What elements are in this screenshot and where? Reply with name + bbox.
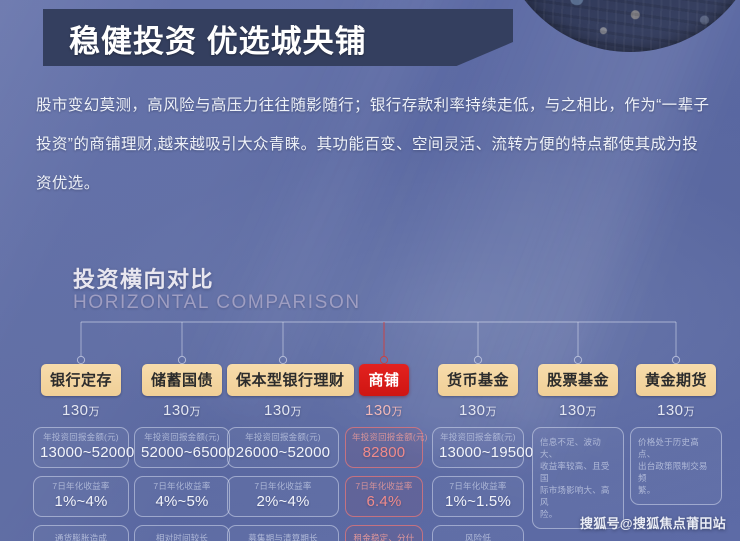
return-amount-box: 年投资回报金额(元)13000~52000 — [33, 427, 129, 468]
amount-unit: 万 — [684, 406, 696, 418]
remark-text: 风险低收益率低 — [438, 532, 518, 541]
remark-box: 募集期与清算期长实际收益偏低 — [227, 525, 339, 541]
connector-node — [574, 356, 581, 363]
connector-node — [672, 356, 679, 363]
column-name-pill[interactable]: 股票基金 — [538, 364, 618, 396]
annual-rate-box: 7日年化收益率6.4% — [345, 476, 423, 517]
column-name-pill[interactable]: 黄金期货 — [636, 364, 716, 396]
amount-value: 130 — [459, 402, 486, 419]
annual-rate-value: 1%~1.5% — [439, 493, 517, 510]
return-amount-value: 13000~52000 — [40, 444, 122, 461]
intro-paragraph: 股市变幻莫测，高风险与高压力往往随影随行；银行存款利率持续走低，与之相比，作为“… — [36, 86, 712, 203]
annual-rate-box: 7日年化收益率4%~5% — [134, 476, 230, 517]
annual-rate-label: 7日年化收益率 — [40, 481, 122, 492]
remark-box: 通货膨胀造成资金变相贬值 — [33, 525, 129, 541]
return-amount-label: 年投资回报金额(元) — [40, 432, 122, 443]
poster-page: 稳健投资 优选城央铺 股市变幻莫测，高风险与高压力往往随影随行；银行存款利率持续… — [0, 0, 740, 541]
comparison-column: 黄金期货130万价格处于历史高点、出台政策限制交易频繁。 — [630, 364, 722, 505]
comparison-column: 货币基金130万年投资回报金额(元)13000~195007日年化收益率1%~1… — [432, 364, 524, 541]
return-amount-label: 年投资回报金额(元) — [141, 432, 223, 443]
annual-rate-box: 7日年化收益率1%~1.5% — [432, 476, 524, 517]
amount-value: 130 — [559, 402, 586, 419]
amount-value: 130 — [163, 402, 190, 419]
return-amount-value: 82800 — [352, 444, 416, 461]
annual-rate-value: 2%~4% — [234, 493, 332, 510]
amount-unit: 万 — [291, 406, 303, 418]
column-name-pill[interactable]: 储蓄国债 — [142, 364, 222, 396]
invested-amount: 130万 — [33, 402, 129, 419]
return-amount-label: 年投资回报金额(元) — [352, 432, 416, 443]
column-name-pill[interactable]: 保本型银行理财 — [227, 364, 354, 396]
amount-value: 130 — [264, 402, 291, 419]
connector-node — [178, 356, 185, 363]
comparison-column: 商铺130万年投资回报金额(元)828007日年化收益率6.4%租金稳定、分什空… — [345, 364, 423, 541]
remark-text: 租金稳定、分什空间灵活风险、高抗通胀能力 — [351, 532, 417, 541]
page-title: 稳健投资 优选城央铺 — [69, 16, 367, 61]
invested-amount: 130万 — [345, 402, 423, 419]
return-amount-box: 年投资回报金额(元)82800 — [345, 427, 423, 468]
invested-amount: 130万 — [532, 402, 624, 419]
annual-rate-label: 7日年化收益率 — [234, 481, 332, 492]
comparison-column: 保本型银行理财130万年投资回报金额(元)26000~520007日年化收益率2… — [227, 364, 339, 541]
remark-box: 风险低收益率低 — [432, 525, 524, 541]
return-amount-box: 年投资回报金额(元)13000~19500 — [432, 427, 524, 468]
connector-node — [279, 356, 286, 363]
annual-rate-value: 4%~5% — [141, 493, 223, 510]
invested-amount: 130万 — [432, 402, 524, 419]
amount-unit: 万 — [486, 406, 498, 418]
remark-box: 价格处于历史高点、出台政策限制交易频繁。 — [630, 427, 722, 505]
return-amount-box: 年投资回报金额(元)52000~65000 — [134, 427, 230, 468]
annual-rate-label: 7日年化收益率 — [141, 481, 223, 492]
comparison-columns: 银行定存130万年投资回报金额(元)13000~520007日年化收益率1%~4… — [0, 364, 740, 534]
annual-rate-value: 1%~4% — [40, 493, 122, 510]
return-amount-value: 13000~19500 — [439, 444, 517, 461]
column-name-pill[interactable]: 银行定存 — [41, 364, 121, 396]
amount-unit: 万 — [190, 406, 202, 418]
remark-text: 募集期与清算期长实际收益偏低 — [233, 532, 333, 541]
connector-node — [77, 356, 84, 363]
watermark: 搜狐号@搜狐焦点莆田站 — [580, 513, 726, 532]
return-amount-label: 年投资回报金额(元) — [234, 432, 332, 443]
remark-text: 通货膨胀造成资金变相贬值 — [39, 532, 123, 541]
amount-unit: 万 — [586, 406, 598, 418]
remark-text: 信息不足、波动大、收益率较高、且受国际市场影响大、高风险。 — [540, 436, 616, 520]
remark-text: 价格处于历史高点、出台政策限制交易频繁。 — [638, 436, 714, 496]
return-amount-value: 26000~52000 — [234, 444, 332, 461]
invested-amount: 130万 — [134, 402, 230, 419]
amount-unit: 万 — [392, 406, 404, 418]
comparison-column: 股票基金130万信息不足、波动大、收益率较高、且受国际市场影响大、高风险。 — [532, 364, 624, 529]
section-title-en: HORIZONTAL COMPARISON — [73, 292, 361, 314]
connector-node — [380, 356, 387, 363]
cityscape-photo-circle — [497, 0, 740, 52]
return-amount-box: 年投资回报金额(元)26000~52000 — [227, 427, 339, 468]
remark-text: 相对时间较长变现不灵活 — [140, 532, 224, 541]
annual-rate-box: 7日年化收益率1%~4% — [33, 476, 129, 517]
annual-rate-label: 7日年化收益率 — [352, 481, 416, 492]
invested-amount: 130万 — [630, 402, 722, 419]
amount-value: 130 — [62, 402, 89, 419]
annual-rate-box: 7日年化收益率2%~4% — [227, 476, 339, 517]
comparison-column: 银行定存130万年投资回报金额(元)13000~520007日年化收益率1%~4… — [33, 364, 129, 541]
amount-value: 130 — [657, 402, 684, 419]
remark-box: 租金稳定、分什空间灵活风险、高抗通胀能力 — [345, 525, 423, 541]
section-title-cn: 投资横向对比 — [73, 262, 214, 294]
annual-rate-value: 6.4% — [352, 493, 416, 510]
column-name-pill[interactable]: 商铺 — [359, 364, 408, 396]
remark-box: 相对时间较长变现不灵活 — [134, 525, 230, 541]
return-amount-label: 年投资回报金额(元) — [439, 432, 517, 443]
return-amount-value: 52000~65000 — [141, 444, 223, 461]
amount-unit: 万 — [89, 406, 101, 418]
amount-value: 130 — [365, 402, 392, 419]
connector-node — [474, 356, 481, 363]
column-name-pill[interactable]: 货币基金 — [438, 364, 518, 396]
comparison-column: 储蓄国债130万年投资回报金额(元)52000~650007日年化收益率4%~5… — [134, 364, 230, 541]
annual-rate-label: 7日年化收益率 — [439, 481, 517, 492]
invested-amount: 130万 — [227, 402, 339, 419]
